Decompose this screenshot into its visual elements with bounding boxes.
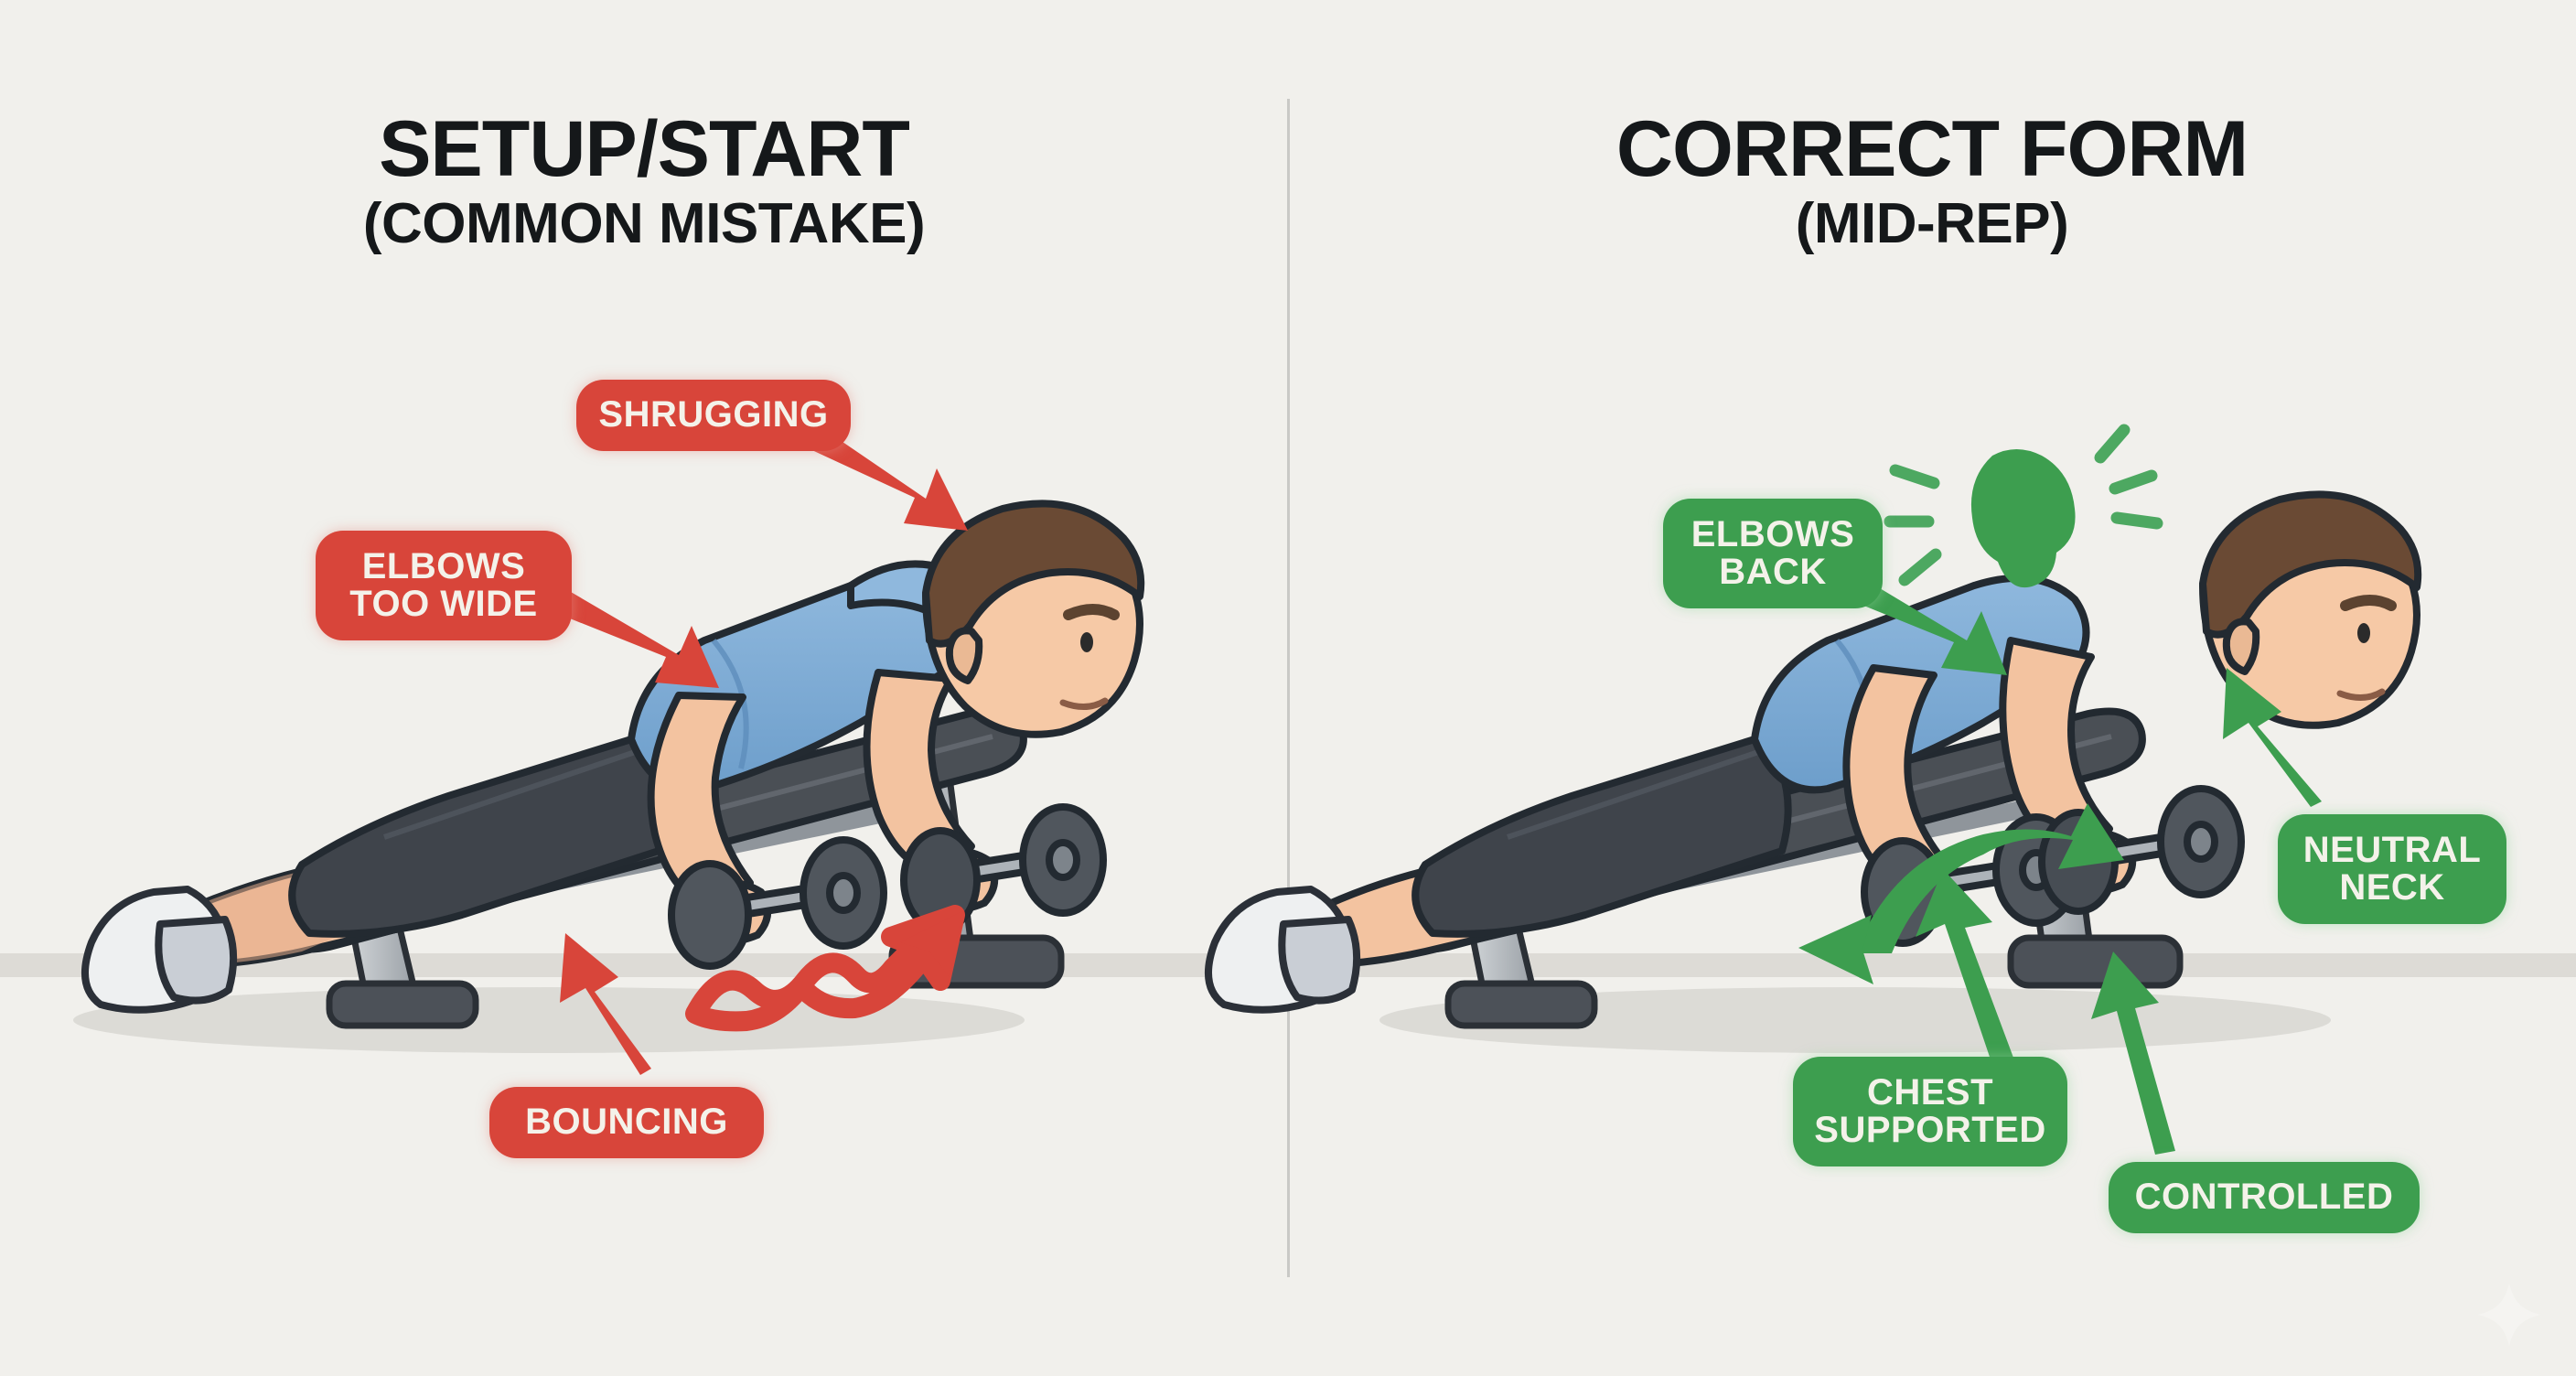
eyebrow bbox=[1068, 609, 1114, 615]
panel-setup-start: SETUP/START (COMMON MISTAKE) bbox=[0, 0, 1288, 1376]
figure-head bbox=[926, 503, 1141, 734]
label-bouncing: BOUNCING bbox=[489, 1087, 764, 1158]
eyebrow bbox=[2345, 600, 2391, 606]
illustration-canvas: SETUP/START (COMMON MISTAKE) bbox=[0, 0, 2576, 1376]
panel-correct-form: CORRECT FORM (MID-REP) bbox=[1288, 0, 2576, 1376]
ear bbox=[950, 630, 979, 681]
eye bbox=[1080, 632, 1093, 652]
elbows-too-wide-arrow-icon bbox=[547, 586, 719, 688]
figure-shorts bbox=[292, 736, 664, 934]
label-chest-supported: CHEST SUPPORTED bbox=[1793, 1057, 2067, 1166]
label-elbows-too-wide: ELBOWS TOO WIDE bbox=[316, 531, 572, 640]
label-elbows-back: ELBOWS BACK bbox=[1663, 499, 1883, 608]
label-shrugging: SHRUGGING bbox=[576, 380, 851, 451]
muscle-activation-icon bbox=[1890, 430, 2157, 587]
sparkle-diamond-icon bbox=[2474, 1279, 2545, 1350]
ear bbox=[2227, 621, 2256, 672]
figure-shorts bbox=[1415, 736, 1787, 934]
left-illustration bbox=[0, 0, 1288, 1376]
label-controlled: CONTROLLED bbox=[2109, 1162, 2420, 1233]
shoes bbox=[85, 889, 233, 1010]
eye bbox=[2357, 623, 2370, 643]
label-neutral-neck: NEUTRAL NECK bbox=[2278, 814, 2506, 924]
